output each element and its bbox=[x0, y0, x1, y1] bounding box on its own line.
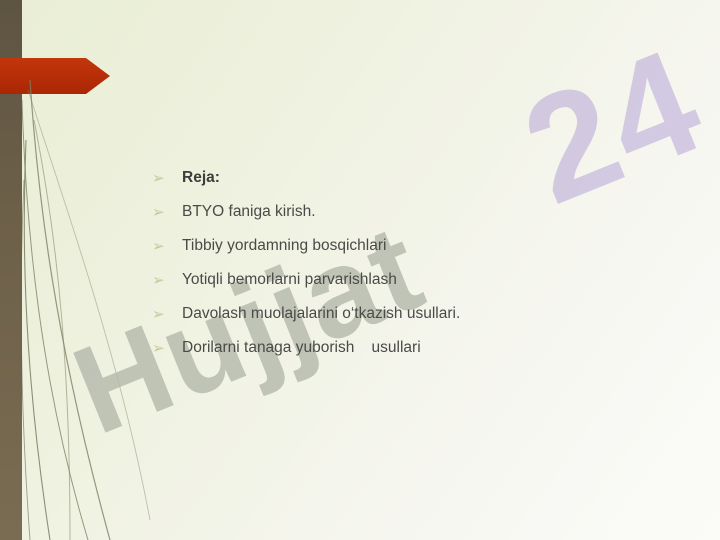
bullet-arrow-icon: ➢ bbox=[152, 236, 182, 257]
list-item: ➢ Tibbiy yordamning bosqichlari bbox=[152, 236, 672, 258]
list-item: ➢ Dorilarni tanaga yuborish usullari bbox=[152, 338, 672, 360]
bullet-arrow-icon: ➢ bbox=[152, 168, 182, 189]
bullet-arrow-icon: ➢ bbox=[152, 304, 182, 325]
bullet-arrow-icon: ➢ bbox=[152, 270, 182, 291]
list-item: ➢ Yotiqli bemorlarni parvarishlash bbox=[152, 270, 672, 292]
list-item-label: Yotiqli bemorlarni parvarishlash bbox=[182, 270, 397, 290]
red-arrow-banner bbox=[0, 58, 110, 94]
bullet-arrow-icon: ➢ bbox=[152, 338, 182, 359]
list-item-label: Dorilarni tanaga yuborish usullari bbox=[182, 338, 421, 358]
slide: 24 Hujjat ➢ Reja: ➢ BTYO faniga kirish. … bbox=[0, 0, 720, 540]
list-item: ➢ Davolash muolajalarini o‘tkazish usull… bbox=[152, 304, 672, 326]
bullet-arrow-icon: ➢ bbox=[152, 202, 182, 223]
list-item-label: BTYO faniga kirish. bbox=[182, 202, 316, 222]
list-item-label: Reja: bbox=[182, 168, 220, 188]
list-item-label: Davolash muolajalarini o‘tkazish usullar… bbox=[182, 304, 460, 324]
list-item-label: Tibbiy yordamning bosqichlari bbox=[182, 236, 386, 256]
bullet-list: ➢ Reja: ➢ BTYO faniga kirish. ➢ Tibbiy y… bbox=[152, 168, 672, 372]
list-item: ➢ Reja: bbox=[152, 168, 672, 190]
list-item: ➢ BTYO faniga kirish. bbox=[152, 202, 672, 224]
